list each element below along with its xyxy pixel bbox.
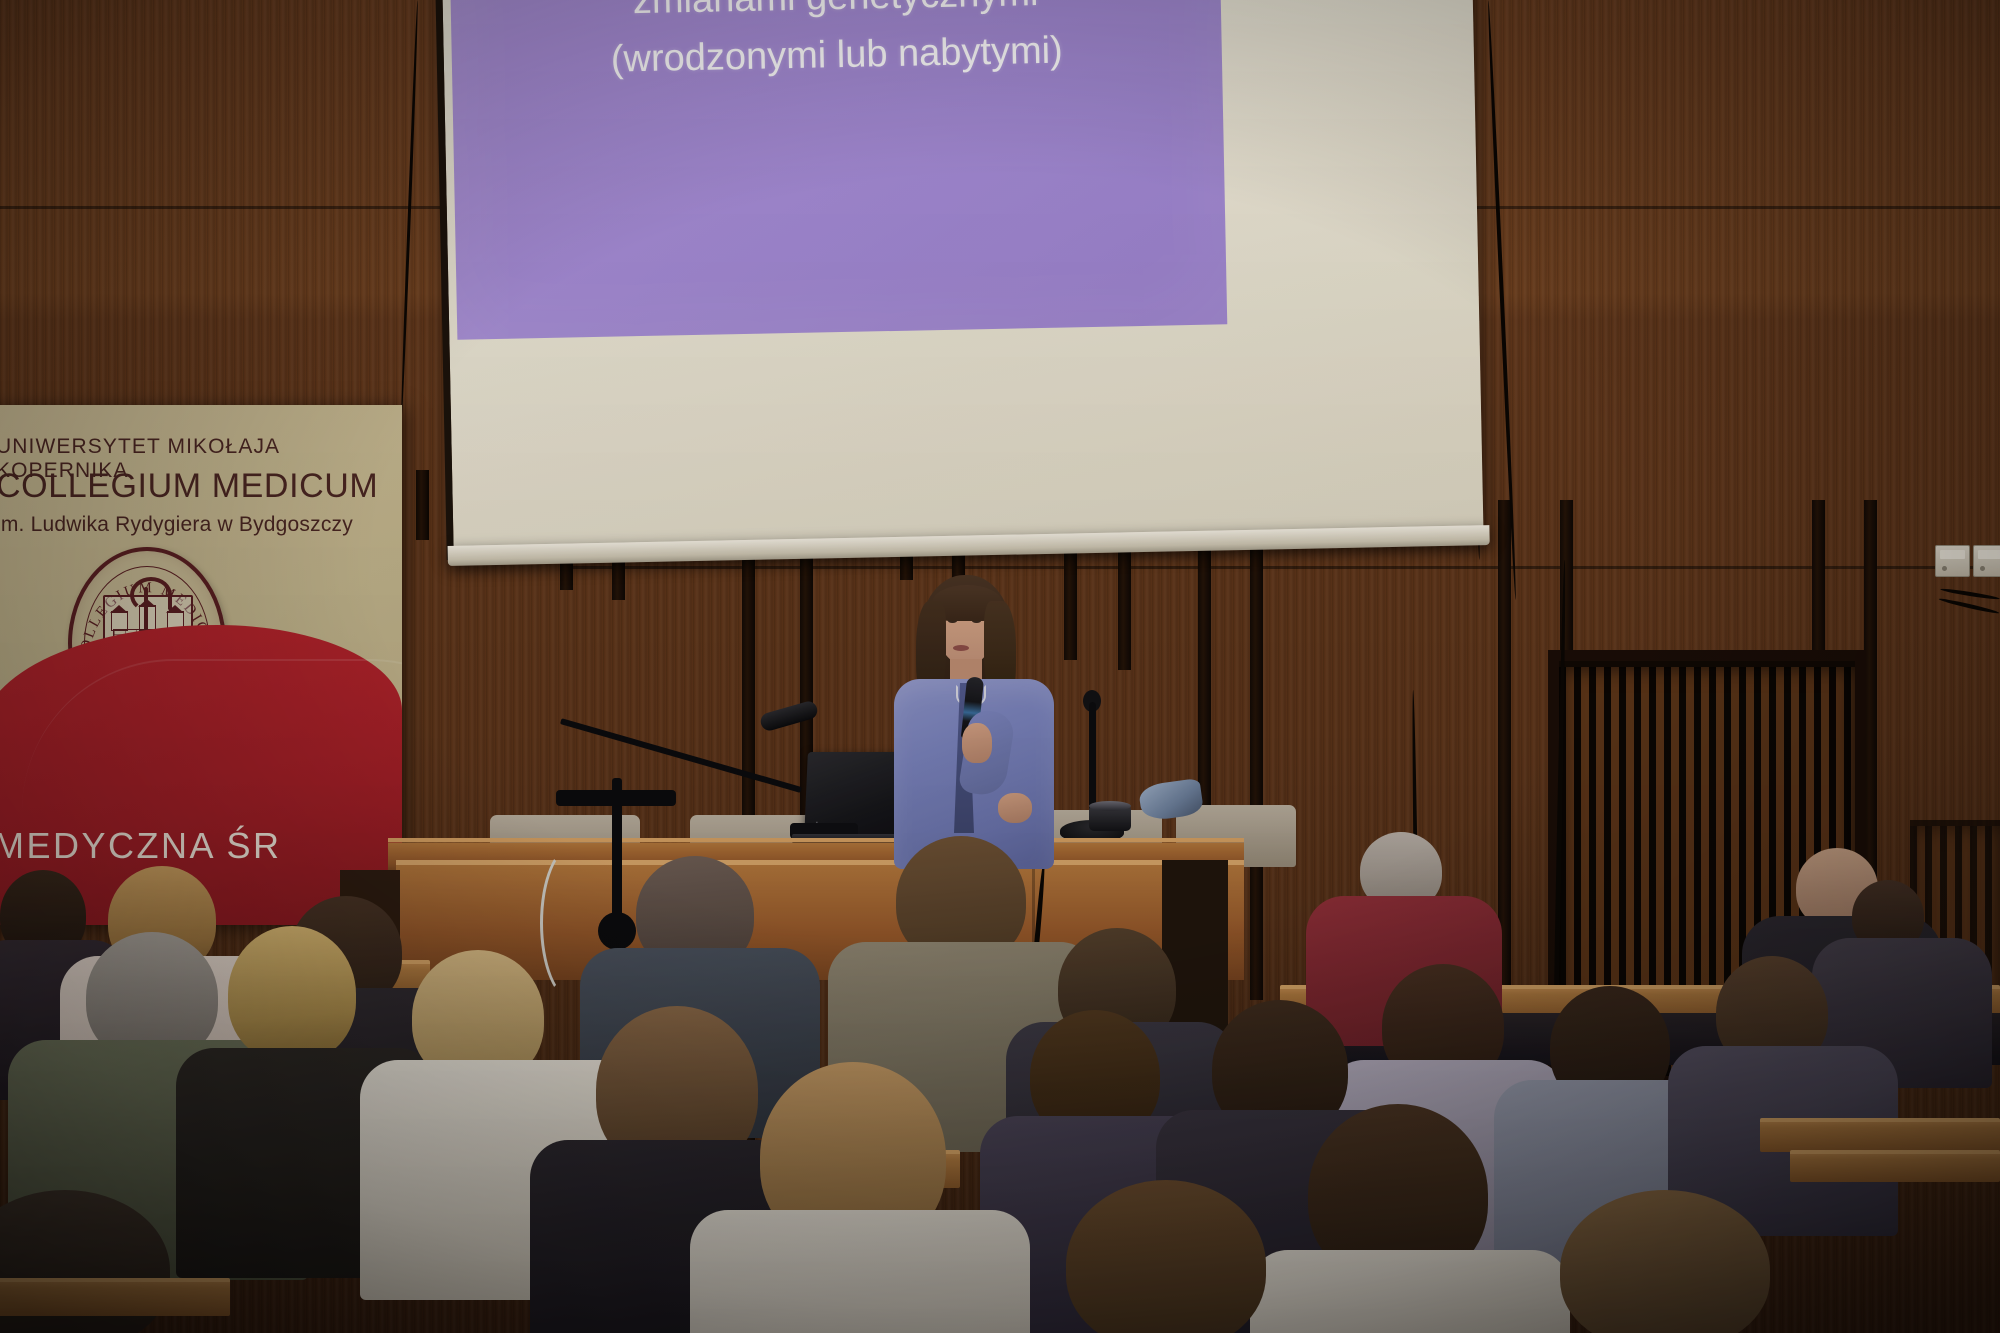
lecture-hall-photo: CHOROBA - stan spowodowany zmianami gene… (0, 0, 2000, 1333)
speaker-hand (962, 723, 992, 763)
wall-batten (416, 470, 429, 540)
audience-desk-row (1760, 1118, 2000, 1152)
slide-body: - stan spowodowany zmianami genetycznymi… (448, 0, 1222, 93)
person-body (1250, 1250, 1570, 1333)
wall-seam (560, 566, 2000, 569)
person-body (690, 1210, 1030, 1333)
banner-red-text: MEDYCZNA ŚR (0, 825, 282, 867)
banner-arc-line (22, 659, 402, 811)
stage-desk-edge (396, 860, 1244, 865)
speaker-presenter (880, 575, 1070, 865)
projected-slide: CHOROBA - stan spowodowany zmianami gene… (445, 0, 1227, 340)
wall-switch-group[interactable] (1935, 545, 2000, 577)
projection-screen: CHOROBA - stan spowodowany zmianami gene… (440, 0, 1483, 550)
desk-puck-top (1089, 801, 1131, 811)
mic-stand-clamp (556, 790, 676, 806)
asclepius-serpent (130, 577, 172, 613)
banner-patron-city: im. Ludwika Rydygiera w Bydgoszczy (0, 513, 402, 537)
university-banner: UNIWERSYTET MIKOŁAJA KOPERNIKA COLLEGIUM… (0, 405, 402, 925)
wall-switch-plate[interactable] (1935, 545, 1970, 577)
banner-collegium-medicum: COLLEGIUM MEDICUM (0, 467, 402, 506)
speaker-mouth (953, 645, 969, 651)
person-head (228, 926, 356, 1062)
audience-desk-row (0, 1278, 230, 1316)
audience-desk-row (1790, 1150, 2000, 1182)
wall-batten (1250, 530, 1263, 1000)
castle-turret (111, 611, 128, 631)
wall-switch-plate[interactable] (1973, 545, 2000, 577)
speaker-hand (998, 793, 1032, 823)
